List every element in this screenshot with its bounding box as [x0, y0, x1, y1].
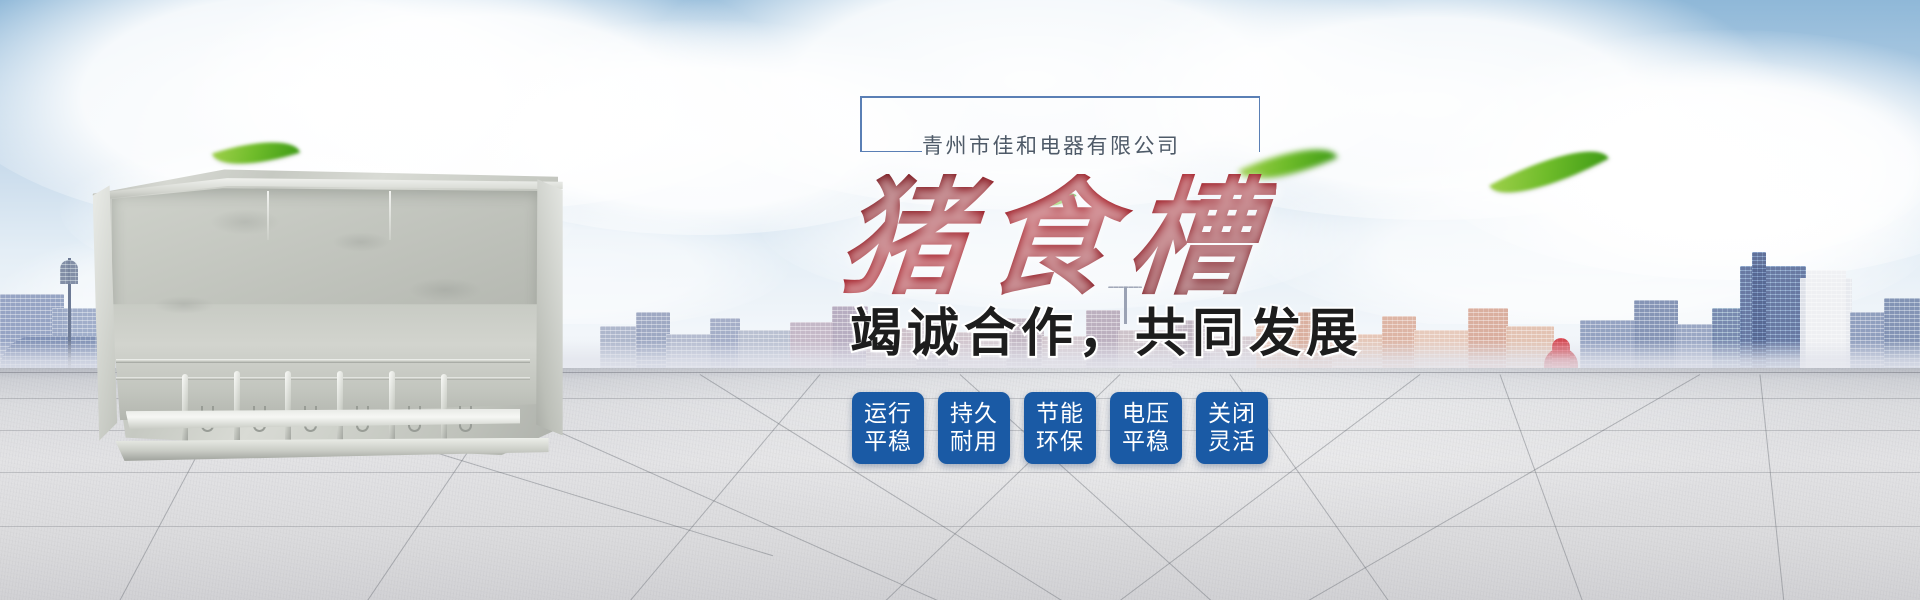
promo-banner: 青州市佳和电器有限公司 猪食槽 竭诚合作，共同发展 运行 平稳 持久 耐用 节能… [0, 0, 1920, 600]
frame-bottom-line [860, 151, 922, 153]
badge-line-2: 平稳 [864, 428, 912, 456]
badge-line-2: 耐用 [950, 428, 998, 456]
badge-line-1: 关闭 [1208, 400, 1256, 428]
badge-line-1: 节能 [1036, 400, 1084, 428]
feature-badge[interactable]: 持久 耐用 [938, 392, 1010, 464]
feature-badge[interactable]: 运行 平稳 [852, 392, 924, 464]
badge-line-2: 灵活 [1208, 428, 1256, 456]
badge-line-2: 平稳 [1122, 428, 1170, 456]
subtitle-slogan: 竭诚合作，共同发展 [850, 308, 1363, 360]
badge-line-1: 电压 [1122, 400, 1170, 428]
feature-badge[interactable]: 节能 环保 [1024, 392, 1096, 464]
frame-top-line [860, 96, 1260, 98]
feature-badge[interactable]: 电压 平稳 [1110, 392, 1182, 464]
product-image-feeder-trough [88, 168, 558, 458]
feature-badge[interactable]: 关闭 灵活 [1196, 392, 1268, 464]
main-title: 猪食槽 [834, 174, 1277, 302]
frame-left-line [860, 96, 862, 152]
badge-line-1: 持久 [950, 400, 998, 428]
feature-badge-list: 运行 平稳 持久 耐用 节能 环保 电压 平稳 关闭 灵活 [852, 392, 1268, 464]
company-name: 青州市佳和电器有限公司 [922, 130, 1262, 160]
badge-line-1: 运行 [864, 400, 912, 428]
badge-line-2: 环保 [1036, 428, 1084, 456]
